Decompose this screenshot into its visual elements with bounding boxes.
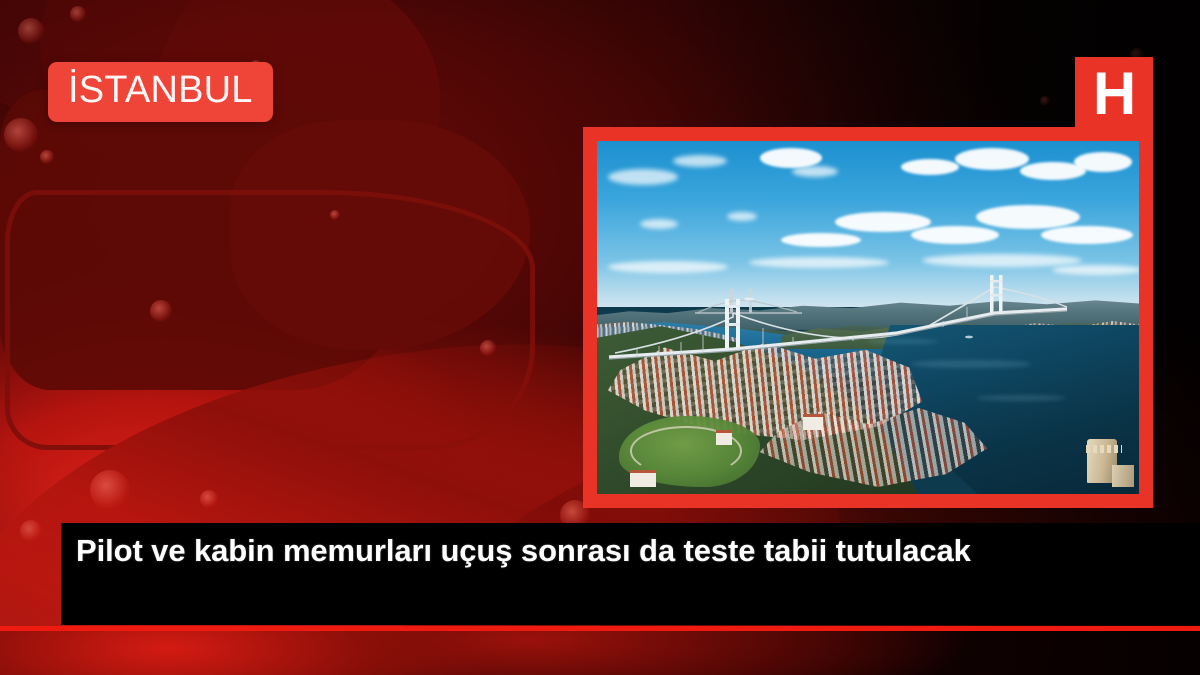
cloud xyxy=(781,233,861,247)
haberler-h-logo-icon: H xyxy=(1075,57,1153,131)
water-shimmer xyxy=(911,360,1031,368)
cloud xyxy=(673,155,727,167)
cloud xyxy=(792,166,838,177)
bottom-band xyxy=(0,631,1200,675)
cloud xyxy=(901,159,959,175)
cloud xyxy=(640,219,678,229)
bosphorus-photo xyxy=(597,141,1139,494)
cloud xyxy=(955,148,1029,170)
cloud xyxy=(727,212,757,221)
news-card: İSTANBUL H xyxy=(0,0,1200,675)
rumeli-fortress-wall xyxy=(1112,465,1134,487)
white-building xyxy=(803,414,823,430)
cloud xyxy=(976,205,1080,229)
cloud xyxy=(922,254,1082,267)
rumeli-fortress-crenellation xyxy=(1086,445,1122,453)
city-badge: İSTANBUL xyxy=(48,62,273,122)
white-building xyxy=(716,430,732,445)
cloud xyxy=(1041,226,1133,244)
cloud xyxy=(911,226,999,244)
page-title: Pilot ve kabin memurları uçuş sonrası da… xyxy=(76,531,1056,570)
photo-frame xyxy=(583,127,1153,508)
water-shimmer xyxy=(868,339,938,344)
cloud xyxy=(1052,265,1139,275)
cloud xyxy=(835,212,931,232)
white-building xyxy=(630,470,656,487)
cloud xyxy=(1074,152,1132,172)
accent-line xyxy=(0,626,1200,631)
headline-box: Pilot ve kabin memurları uçuş sonrası da… xyxy=(61,523,1200,625)
cloud xyxy=(608,261,728,273)
